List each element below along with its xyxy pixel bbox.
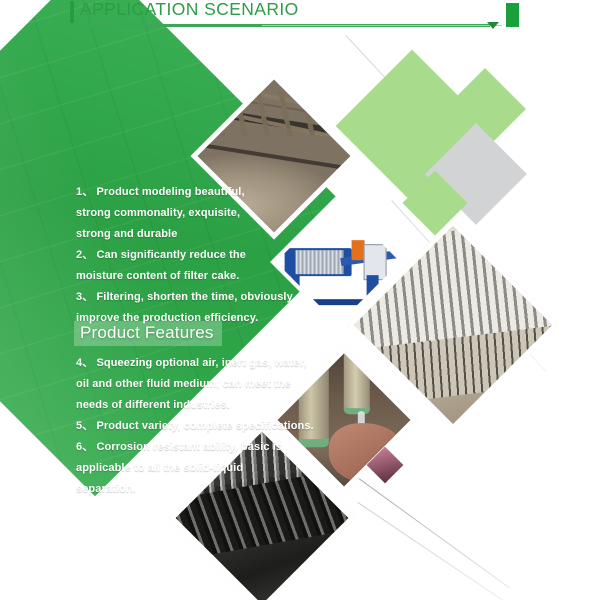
header-left-tick <box>70 1 74 23</box>
decor-diagonal-line-2 <box>347 470 510 589</box>
page-title: APPLICATION SCENARIO <box>80 0 299 20</box>
header-end-block <box>506 3 519 27</box>
chevron-down-icon <box>487 22 499 29</box>
hand <box>329 423 407 483</box>
bottle-right <box>344 351 370 414</box>
machine-head <box>363 244 386 280</box>
page-header: APPLICATION SCENARIO <box>0 0 600 34</box>
brochure-page: 1、 Product modeling beautiful, strong co… <box>0 0 600 600</box>
decor-diagonal-line-3 <box>357 502 523 600</box>
header-thin-rule <box>262 25 502 26</box>
machine-plates <box>296 249 344 273</box>
bottle-left <box>299 354 329 447</box>
